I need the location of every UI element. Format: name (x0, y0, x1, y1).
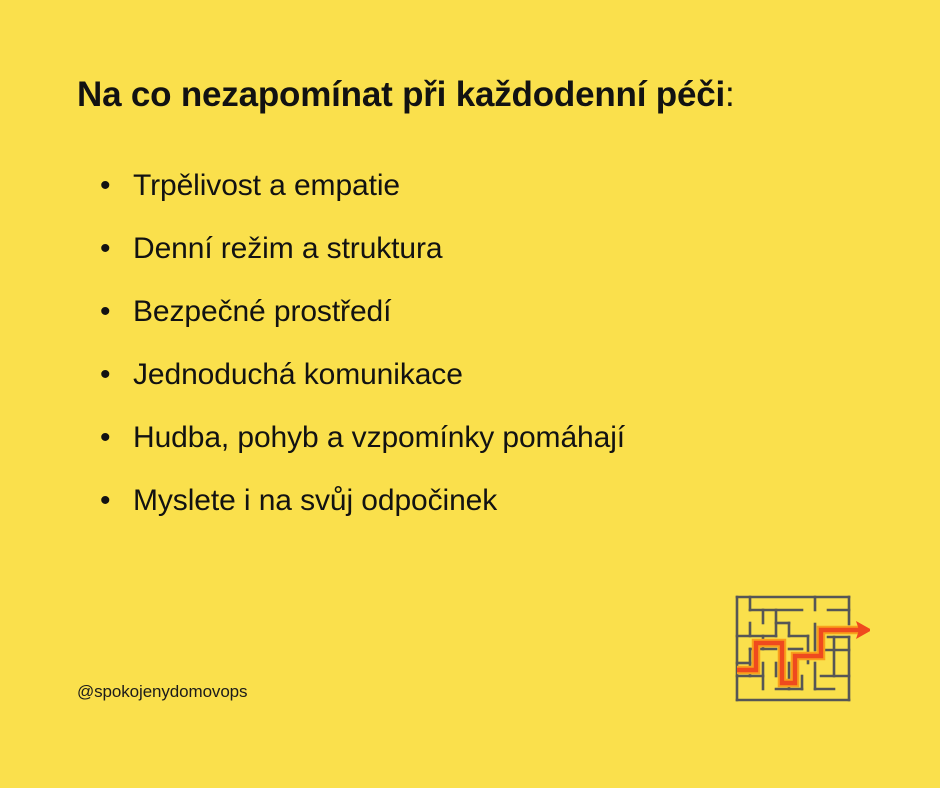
page-title: Na co nezapomínat při každodenní péči: (77, 74, 735, 116)
care-tips-list: • Trpělivost a empatie • Denní režim a s… (100, 166, 860, 544)
social-handle: @spokojenydomovops (77, 682, 247, 702)
bullet-dot-icon: • (100, 355, 133, 395)
bullet-dot-icon: • (100, 229, 133, 269)
bullet-dot-icon: • (100, 481, 133, 521)
list-item: • Trpělivost a empatie (100, 166, 860, 229)
list-item-label: Denní režim a struktura (133, 229, 442, 269)
list-item: • Denní režim a struktura (100, 229, 860, 292)
list-item: • Hudba, pohyb a vzpomínky pomáhají (100, 418, 860, 481)
bullet-dot-icon: • (100, 418, 133, 458)
list-item: • Myslete i na svůj odpočinek (100, 481, 860, 544)
page-title-colon: : (725, 75, 735, 114)
list-item-label: Myslete i na svůj odpočinek (133, 481, 497, 521)
bullet-dot-icon: • (100, 292, 133, 332)
list-item-label: Jednoduchá komunikace (133, 355, 463, 395)
maze-logo (730, 588, 870, 713)
maze-icon (730, 588, 870, 713)
slide-canvas: Na co nezapomínat při každodenní péči: •… (0, 0, 940, 788)
list-item-label: Bezpečné prostředí (133, 292, 391, 332)
list-item-label: Trpělivost a empatie (133, 166, 400, 206)
list-item: • Bezpečné prostředí (100, 292, 860, 355)
page-title-main: Na co nezapomínat při každodenní péči (77, 75, 725, 114)
list-item: • Jednoduchá komunikace (100, 355, 860, 418)
bullet-dot-icon: • (100, 166, 133, 206)
list-item-label: Hudba, pohyb a vzpomínky pomáhají (133, 418, 625, 458)
